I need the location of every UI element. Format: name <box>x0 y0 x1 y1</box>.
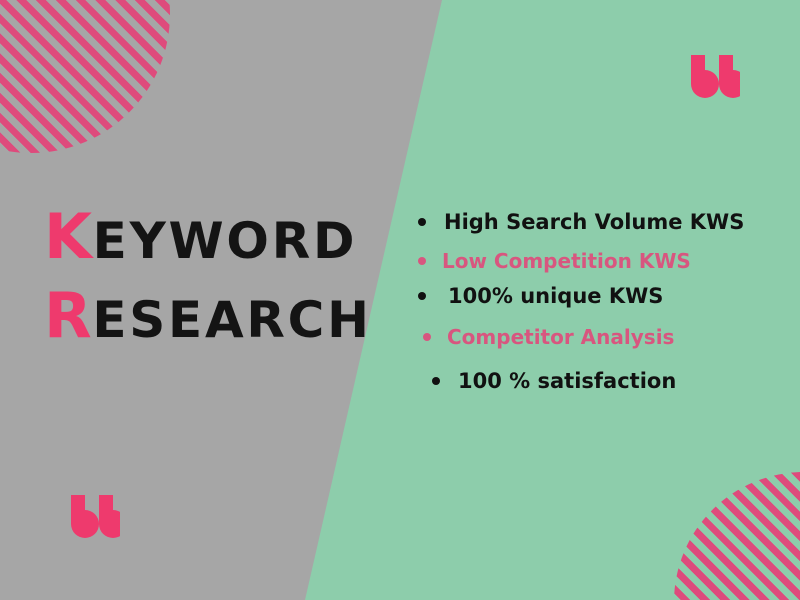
list-item-label: Low Competition KWS <box>442 249 691 273</box>
bullet-dot-icon <box>418 218 426 226</box>
title-line-keyword: Keyword <box>44 205 344 268</box>
bullet-dot-icon <box>418 292 426 300</box>
list-item-label: Competitor Analysis <box>447 325 674 349</box>
list-item: Low Competition KWS <box>410 249 790 273</box>
page-title: Keyword Research <box>44 205 344 347</box>
list-item-label: 100% unique KWS <box>448 284 663 308</box>
list-item-label: High Search Volume KWS <box>444 210 744 234</box>
quote-mark-top-right-icon <box>678 55 740 103</box>
quote-mark-bottom-left-icon <box>58 495 120 543</box>
list-item: Competitor Analysis <box>410 325 790 349</box>
bullet-dot-icon <box>432 377 440 385</box>
title-line-research: Research <box>44 284 344 347</box>
list-item: High Search Volume KWS <box>410 210 790 234</box>
title-rest-research: esearch <box>92 291 371 349</box>
title-cap-r: R <box>44 279 92 352</box>
slide-canvas: Keyword Research High Search Volume KWS … <box>0 0 800 600</box>
feature-bullet-list: High Search Volume KWS Low Competition K… <box>410 210 790 393</box>
list-item-label: 100 % satisfaction <box>458 369 676 393</box>
list-item: 100% unique KWS <box>410 284 790 308</box>
list-item: 100 % satisfaction <box>410 369 790 393</box>
bullet-dot-icon <box>418 257 426 265</box>
title-rest-keyword: eyword <box>93 212 358 270</box>
bullet-dot-icon <box>423 333 431 341</box>
title-cap-k: K <box>44 200 93 273</box>
